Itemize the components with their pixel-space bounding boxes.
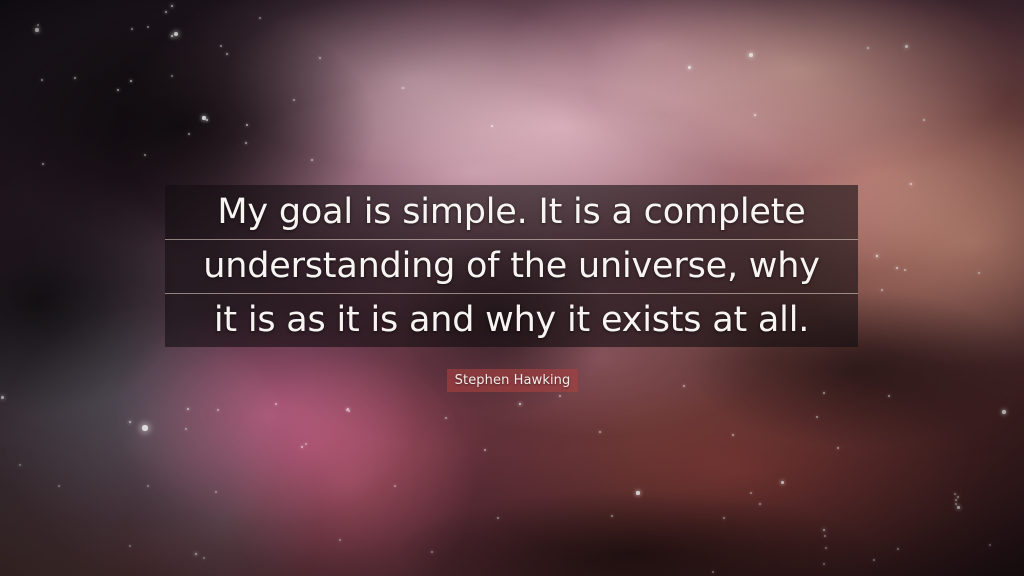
star xyxy=(319,57,321,59)
star xyxy=(339,539,341,541)
star xyxy=(904,269,906,271)
star xyxy=(347,408,349,410)
star xyxy=(165,11,167,13)
star xyxy=(712,571,714,573)
star xyxy=(37,24,39,26)
star xyxy=(129,545,131,547)
star xyxy=(750,492,752,494)
star xyxy=(881,289,883,291)
star xyxy=(754,114,756,116)
quote-line-text: My goal is simple. It is a complete xyxy=(217,195,805,230)
quote-card: My goal is simple. It is a complete unde… xyxy=(0,0,1024,576)
star xyxy=(58,485,60,487)
star xyxy=(823,392,825,394)
star xyxy=(923,119,925,121)
star xyxy=(876,255,879,258)
star xyxy=(74,77,76,79)
quote-line: it is as it is and why it exists at all. xyxy=(165,293,858,347)
quote-line: My goal is simple. It is a complete xyxy=(165,185,858,239)
star xyxy=(559,395,561,397)
star xyxy=(188,133,190,135)
star xyxy=(824,535,826,537)
star xyxy=(823,563,825,565)
star xyxy=(723,517,725,519)
star xyxy=(293,99,295,101)
star xyxy=(147,485,149,487)
star xyxy=(599,431,601,433)
star xyxy=(206,119,208,121)
star xyxy=(957,506,960,509)
star xyxy=(259,17,261,19)
star xyxy=(246,124,248,126)
star xyxy=(497,517,499,519)
quote-line: understanding of the universe, why xyxy=(165,239,858,293)
star xyxy=(217,409,219,411)
star xyxy=(955,499,957,501)
star xyxy=(905,45,908,48)
star xyxy=(759,503,761,505)
star xyxy=(144,154,146,156)
star xyxy=(346,409,348,411)
star xyxy=(41,79,43,81)
star xyxy=(130,80,132,82)
star xyxy=(873,559,875,561)
star xyxy=(431,551,433,553)
star xyxy=(305,443,307,445)
star xyxy=(195,553,198,556)
star xyxy=(484,449,486,451)
star xyxy=(245,142,247,144)
star xyxy=(131,28,133,30)
star xyxy=(816,416,818,418)
star xyxy=(147,26,149,28)
star xyxy=(989,544,991,546)
star xyxy=(897,548,899,550)
star xyxy=(203,557,205,559)
star xyxy=(636,491,639,494)
star xyxy=(749,53,753,57)
star xyxy=(732,434,734,436)
quote-line-text: it is as it is and why it exists at all. xyxy=(214,303,809,338)
star xyxy=(955,503,957,505)
quote-line-text: understanding of the universe, why xyxy=(203,249,819,284)
star xyxy=(171,35,174,38)
author-name: Stephen Hawking xyxy=(455,374,571,387)
star xyxy=(688,66,691,69)
star xyxy=(491,125,493,127)
star xyxy=(896,267,898,269)
star xyxy=(445,417,447,419)
star xyxy=(888,395,890,397)
star xyxy=(837,447,839,449)
quote-text-box: My goal is simple. It is a complete unde… xyxy=(165,185,858,347)
star xyxy=(519,403,522,406)
star xyxy=(978,272,980,274)
star xyxy=(683,385,685,387)
star xyxy=(402,87,404,89)
star xyxy=(1002,410,1005,413)
star xyxy=(394,485,396,487)
author-attribution-bar: Stephen Hawking xyxy=(447,369,578,392)
star xyxy=(275,403,277,405)
star xyxy=(171,75,173,77)
star xyxy=(226,53,228,55)
star xyxy=(825,547,827,549)
star xyxy=(129,421,132,424)
star xyxy=(311,159,313,161)
star xyxy=(867,47,869,49)
star xyxy=(611,515,613,517)
star xyxy=(348,410,350,412)
star xyxy=(171,5,174,8)
star xyxy=(19,464,21,466)
star xyxy=(174,32,178,36)
star xyxy=(187,408,189,410)
star xyxy=(301,446,303,448)
star xyxy=(117,89,119,91)
star xyxy=(910,183,913,186)
star xyxy=(1,396,4,399)
star xyxy=(823,529,826,532)
star xyxy=(954,493,956,495)
star xyxy=(202,116,205,119)
star xyxy=(215,491,217,493)
star xyxy=(142,425,147,430)
star xyxy=(185,428,187,430)
star xyxy=(220,45,222,47)
star xyxy=(781,481,784,484)
star xyxy=(42,163,44,165)
star xyxy=(957,496,959,498)
star xyxy=(35,28,38,31)
